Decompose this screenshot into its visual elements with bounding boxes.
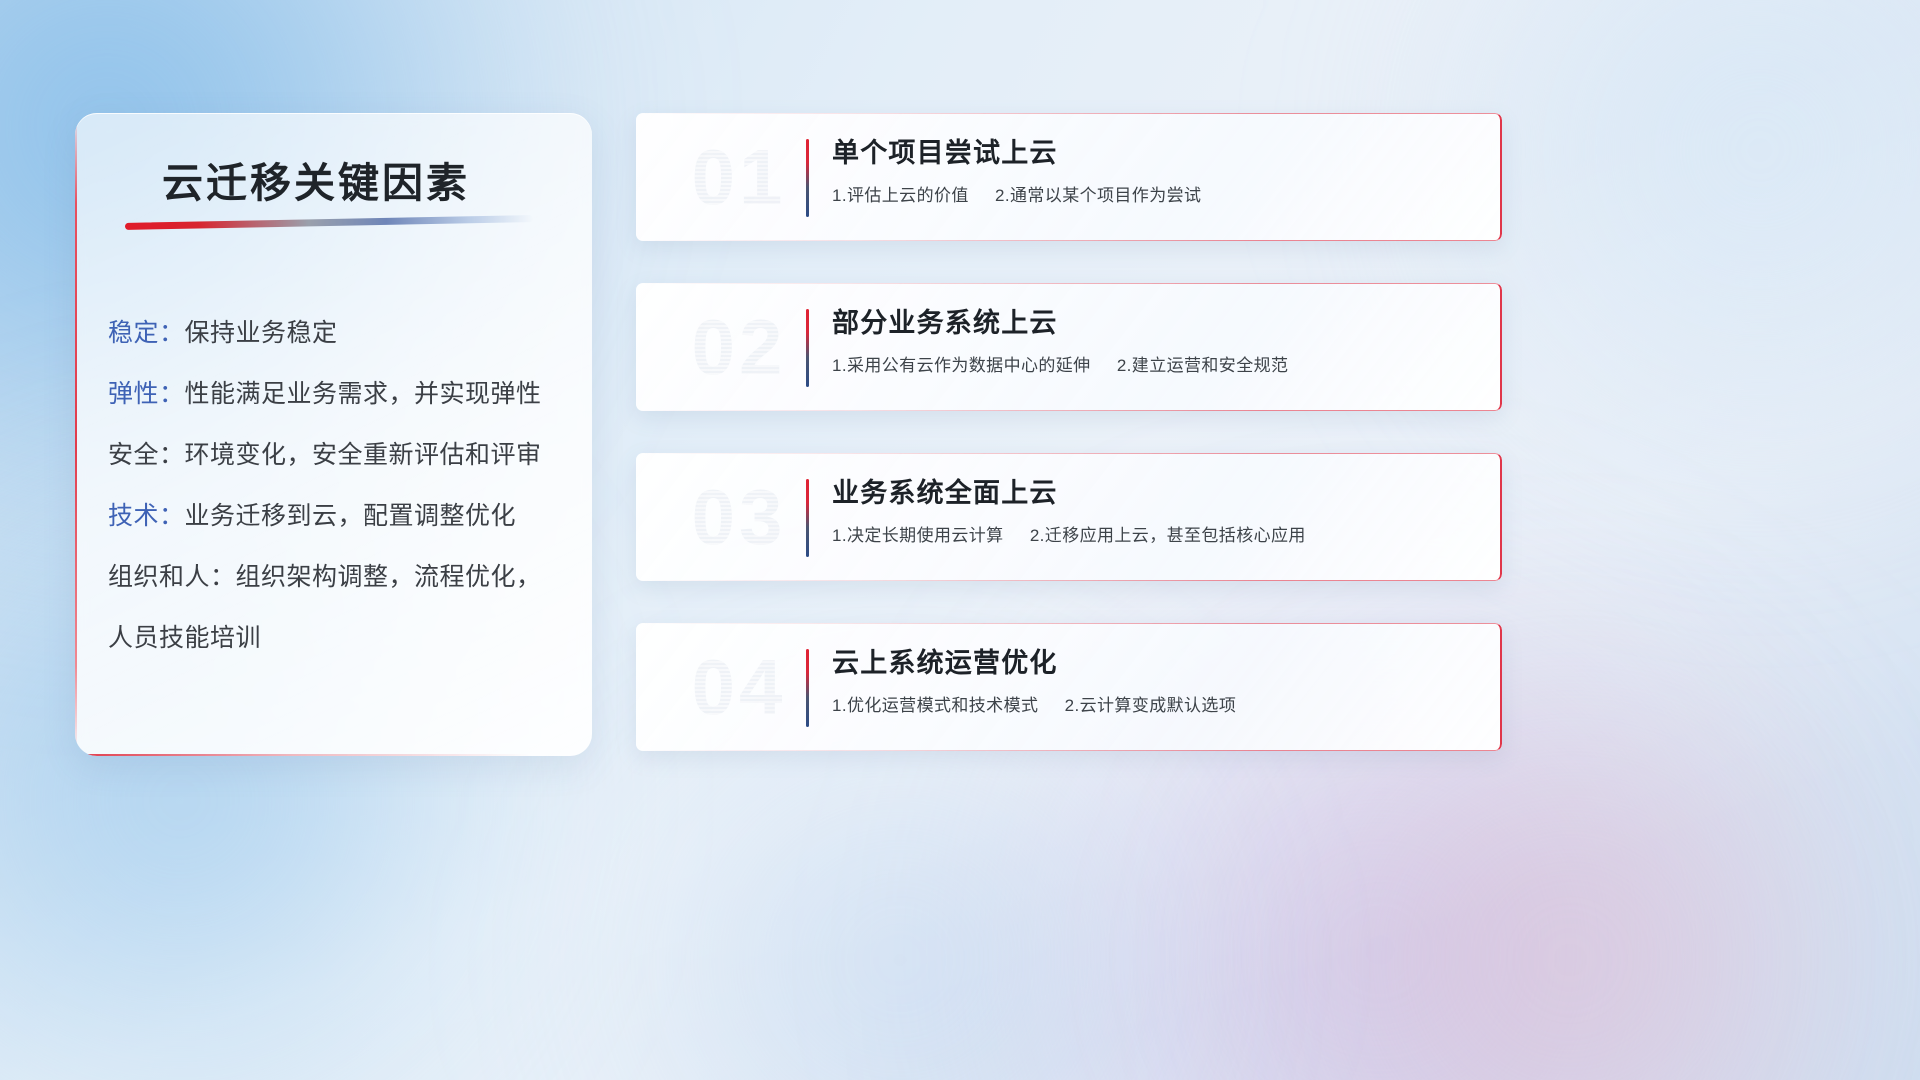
stage-body: 单个项目尝试上云 1.评估上云的价值 2.通常以某个项目作为尝试 [832,133,1480,209]
stage-card[interactable]: 01 01 单个项目尝试上云 1.评估上云的价值 2.通常以某个项目作为尝试 [636,113,1502,241]
stage-description-part-1: 1.评估上云的价值 [832,186,969,205]
stage-description: 1.决定长期使用云计算 2.迁移应用上云，甚至包括核心应用 [832,523,1480,549]
key-factors-panel: 云迁移关键因素 稳定：保持业务稳定 弹性：性能满足业务需求，并实现弹性 安全：环… [75,113,592,756]
list-item-key: 技术： [108,502,185,530]
stage-title: 业务系统全面上云 [832,473,1480,513]
stage-card[interactable]: 03 03 业务系统全面上云 1.决定长期使用云计算 2.迁移应用上云，甚至包括… [636,453,1502,581]
list-item-key: 组织和人： [108,563,236,591]
title-underline-rule [125,215,533,230]
stage-description-part-2: 2.迁移应用上云，甚至包括核心应用 [1030,526,1306,545]
stage-body: 云上系统运营优化 1.优化运营模式和技术模式 2.云计算变成默认选项 [832,643,1480,719]
stage-description: 1.采用公有云作为数据中心的延伸 2.建立运营和安全规范 [832,353,1480,379]
stage-body: 部分业务系统上云 1.采用公有云作为数据中心的延伸 2.建立运营和安全规范 [832,303,1480,379]
stage-description: 1.评估上云的价值 2.通常以某个项目作为尝试 [832,183,1480,209]
stage-description: 1.优化运营模式和技术模式 2.云计算变成默认选项 [832,693,1480,719]
list-item: 弹性：性能满足业务需求，并实现弹性 [108,364,568,425]
stage-description-part-1: 1.优化运营模式和技术模式 [832,696,1038,715]
list-item-value: 性能满足业务需求，并实现弹性 [185,380,542,408]
stage-number: 02 [664,299,814,395]
panel-title: 云迁移关键因素 [162,149,470,209]
stage-card[interactable]: 02 02 部分业务系统上云 1.采用公有云作为数据中心的延伸 2.建立运营和安… [636,283,1502,411]
stage-number: 04 [664,639,814,735]
list-item: 安全：环境变化，安全重新评估和评审 [108,425,568,486]
stage-divider [806,309,809,387]
stage-description-part-2: 2.通常以某个项目作为尝试 [995,186,1201,205]
stage-title: 部分业务系统上云 [832,303,1480,343]
list-item: 技术：业务迁移到云，配置调整优化 [108,486,568,547]
stage-divider [806,649,809,727]
stage-number: 01 [664,129,814,225]
stage-divider [806,479,809,557]
stage-body: 业务系统全面上云 1.决定长期使用云计算 2.迁移应用上云，甚至包括核心应用 [832,473,1480,549]
stage-description-part-2: 2.建立运营和安全规范 [1117,356,1289,375]
list-item: 人员技能培训 [108,608,568,669]
list-item-value: 组织架构调整，流程优化， [236,563,542,591]
list-item: 组织和人：组织架构调整，流程优化， [108,547,568,608]
list-item-key: 安全： [108,441,185,469]
stage-description-part-1: 1.采用公有云作为数据中心的延伸 [832,356,1091,375]
stage-card[interactable]: 04 04 云上系统运营优化 1.优化运营模式和技术模式 2.云计算变成默认选项 [636,623,1502,751]
list-item: 稳定：保持业务稳定 [108,303,568,364]
list-item-value: 人员技能培训 [108,624,261,652]
stage-description-part-1: 1.决定长期使用云计算 [832,526,1004,545]
list-item-key: 弹性： [108,380,185,408]
stage-description-part-2: 2.云计算变成默认选项 [1065,696,1237,715]
list-item-value: 环境变化，安全重新评估和评审 [185,441,542,469]
list-item-value: 业务迁移到云，配置调整优化 [185,502,517,530]
key-factors-list: 稳定：保持业务稳定 弹性：性能满足业务需求，并实现弹性 安全：环境变化，安全重新… [108,303,568,669]
stage-title: 云上系统运营优化 [832,643,1480,683]
stages-card-list: 01 01 单个项目尝试上云 1.评估上云的价值 2.通常以某个项目作为尝试 0… [636,113,1502,793]
stage-title: 单个项目尝试上云 [832,133,1480,173]
stage-number: 03 [664,469,814,565]
list-item-key: 稳定： [108,319,185,347]
list-item-value: 保持业务稳定 [185,319,338,347]
stage-divider [806,139,809,217]
